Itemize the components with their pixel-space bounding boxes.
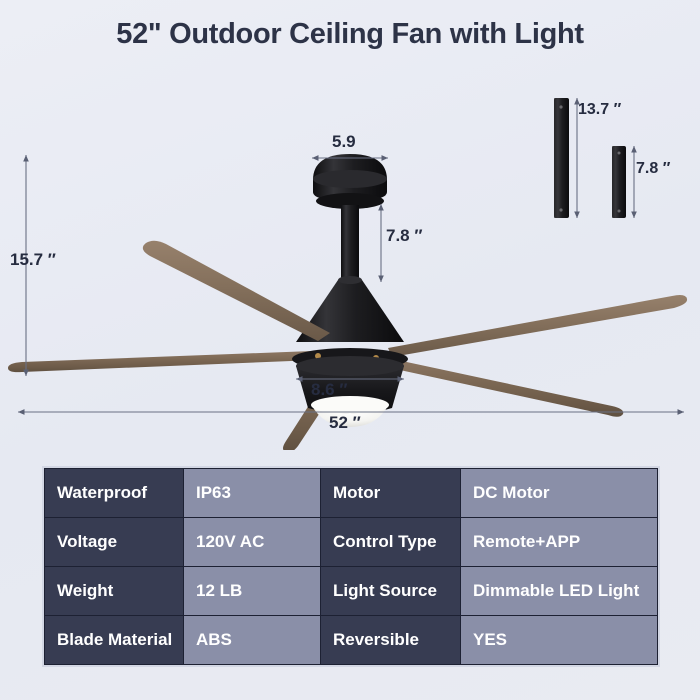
spec-key: Control Type [321, 518, 461, 567]
dim-label-downrod-length: 7.8 ″ [386, 226, 423, 246]
table-row: Weight 12 LB Light Source Dimmable LED L… [45, 567, 658, 616]
dim-label-rod-long: 13.7 ″ [578, 101, 621, 119]
page-title: 52" Outdoor Ceiling Fan with Light [0, 18, 700, 51]
table-row: Voltage 120V AC Control Type Remote+APP [45, 518, 658, 567]
table-row: Waterproof IP63 Motor DC Motor [45, 469, 658, 518]
spec-key: Light Source [321, 567, 461, 616]
spec-value: Dimmable LED Light [461, 567, 658, 616]
spec-value: YES [461, 616, 658, 665]
dim-label-overall-height: 15.7 ″ [10, 250, 56, 270]
specification-table-body: Waterproof IP63 Motor DC Motor Voltage 1… [45, 469, 658, 665]
spec-key: Voltage [45, 518, 184, 567]
specification-table: Waterproof IP63 Motor DC Motor Voltage 1… [44, 468, 658, 665]
spec-value: DC Motor [461, 469, 658, 518]
dim-label-light-kit-width: 8.6 ″ [311, 380, 348, 400]
spec-key: Blade Material [45, 616, 184, 665]
spec-key: Motor [321, 469, 461, 518]
spec-value: ABS [184, 616, 321, 665]
spec-key: Weight [45, 567, 184, 616]
dim-label-rod-short: 7.8 ″ [636, 160, 670, 178]
spec-value: 12 LB [184, 567, 321, 616]
spec-key: Waterproof [45, 469, 184, 518]
product-spec-page: 52" Outdoor Ceiling Fan with Light [0, 0, 700, 700]
spec-value: Remote+APP [461, 518, 658, 567]
spec-key: Reversible [321, 616, 461, 665]
spec-value: 120V AC [184, 518, 321, 567]
spec-value: IP63 [184, 469, 321, 518]
table-row: Blade Material ABS Reversible YES [45, 616, 658, 665]
dim-label-canopy-width: 5.9 [332, 132, 356, 152]
dim-label-blade-span: 52 ″ [329, 413, 361, 433]
product-illustration: 15.7 ″ 5.9 7.8 ″ 8.6 ″ 52 ″ 13.7 ″ 7.8 ″ [0, 60, 700, 450]
